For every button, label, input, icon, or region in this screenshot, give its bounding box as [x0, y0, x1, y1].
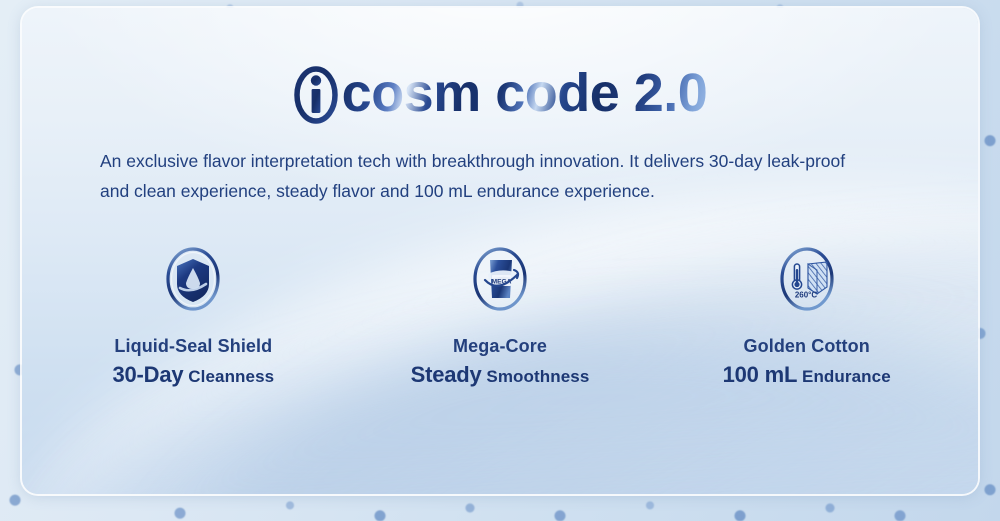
feature-highlight: Steady — [411, 362, 482, 387]
feature-item-liquid-seal-shield: Liquid-Seal Shield 30-Day Cleanness — [40, 244, 347, 388]
feature-list: Liquid-Seal Shield 30-Day Cleanness — [0, 244, 1000, 388]
feature-item-mega-core: MEGA Mega-Core Steady Smoothness — [347, 244, 654, 388]
feature-name: Golden Cotton — [744, 336, 870, 357]
feature-rest: Smoothness — [482, 367, 590, 386]
feature-detail: 30-Day Cleanness — [112, 362, 274, 388]
mega-core-icon: MEGA — [468, 244, 532, 314]
brand-title-row: cosm code 2.0 — [0, 62, 1000, 124]
description-block: An exclusive flavor interpretation tech … — [100, 146, 900, 206]
i-in-ellipse-icon — [293, 62, 339, 124]
description-line-1: An exclusive flavor interpretation tech … — [100, 146, 900, 176]
feature-item-golden-cotton: 260°C Golden Cotton 100 mL Endurance — [653, 244, 960, 388]
feature-highlight: 30-Day — [112, 362, 183, 387]
temperature-badge-label: 260°C — [795, 291, 818, 300]
page-title: cosm code 2.0 — [342, 66, 708, 120]
feature-detail: Steady Smoothness — [411, 362, 590, 388]
feature-detail: 100 mL Endurance — [723, 362, 891, 388]
thermometer-cotton-icon: 260°C — [775, 244, 839, 314]
feature-highlight: 100 mL — [723, 362, 798, 387]
banner-content: cosm code 2.0 An exclusive flavor interp… — [0, 0, 1000, 521]
feature-name: Mega-Core — [453, 336, 547, 357]
feature-name: Liquid-Seal Shield — [114, 336, 272, 357]
feature-rest: Cleanness — [183, 367, 274, 386]
shield-droplet-icon — [161, 244, 225, 314]
promo-banner: cosm code 2.0 An exclusive flavor interp… — [0, 0, 1000, 521]
description-line-2: and clean experience, steady flavor and … — [100, 176, 900, 206]
feature-rest: Endurance — [797, 367, 891, 386]
